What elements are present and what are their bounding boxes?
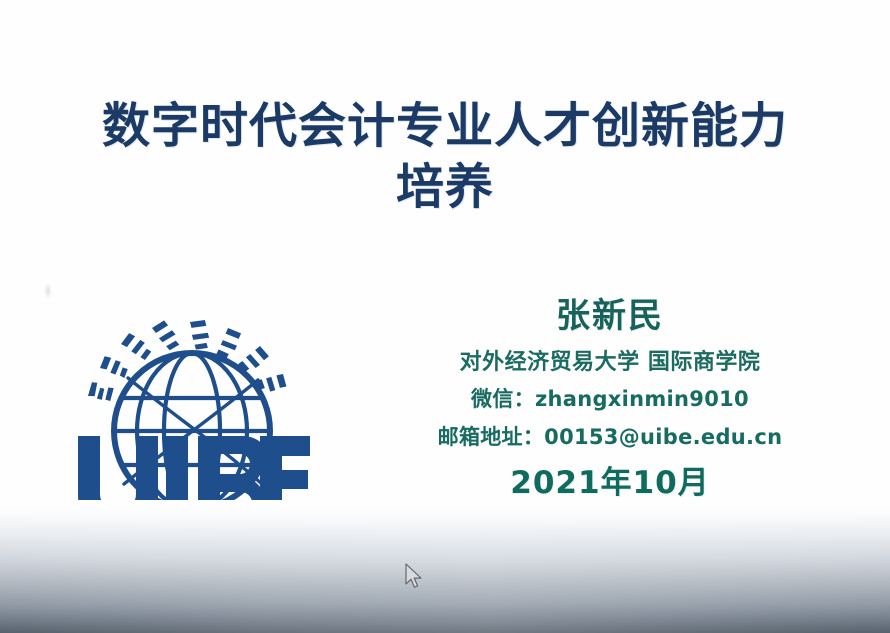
presenter-name: 张新民	[330, 296, 890, 337]
presenter-wechat: 微信：zhangxinmin9010	[330, 386, 890, 413]
presentation-viewer: 数字时代会计专业人才创新能力 培养	[0, 0, 890, 633]
video-artifact	[44, 283, 52, 299]
presentation-date: 2021年10月	[330, 465, 890, 502]
presenter-affiliation: 对外经济贸易大学 国际商学院	[330, 349, 890, 377]
slide-canvas: 数字时代会计专业人才创新能力 培养	[0, 0, 890, 530]
presenter-info: 张新民 对外经济贸易大学 国际商学院 微信：zhangxinmin9010 邮箱…	[330, 296, 890, 502]
slide-title-line-2: 培养	[0, 157, 890, 218]
slide-title: 数字时代会计专业人才创新能力 培养	[0, 96, 890, 219]
viewer-background	[0, 500, 890, 633]
slide-title-line-1: 数字时代会计专业人才创新能力	[0, 96, 890, 157]
presenter-email: 邮箱地址：00153@uibe.edu.cn	[330, 424, 890, 451]
